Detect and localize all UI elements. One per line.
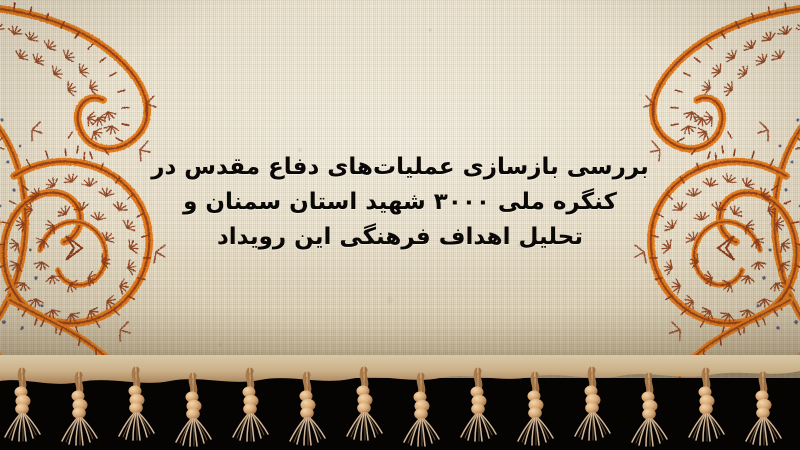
knotted-tassel-fringe (0, 355, 800, 450)
headline-line-1: بررسی بازسازی عملیات‌های دفاع مقدس در (150, 150, 650, 185)
headline-line-2: کنگره ملی ۳۰۰۰ شهید استان سمنان و (150, 185, 650, 220)
pateh-banner: بررسی بازسازی عملیات‌های دفاع مقدس در کن… (0, 0, 800, 450)
headline-line-3: تحلیل اهداف فرهنگی این رویداد (150, 220, 650, 255)
headline-text-block: بررسی بازسازی عملیات‌های دفاع مقدس در کن… (150, 150, 650, 255)
